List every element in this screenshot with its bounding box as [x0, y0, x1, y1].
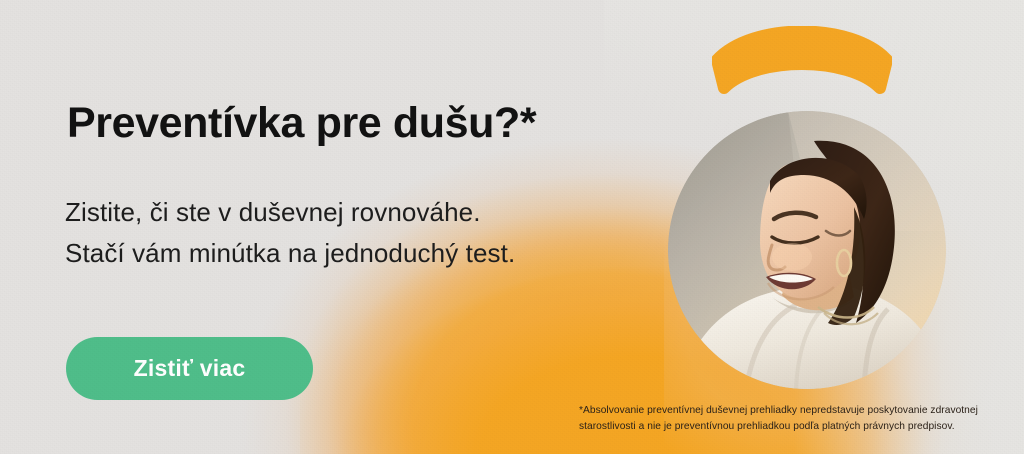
page-title: Preventívka pre dušu?*: [67, 101, 536, 146]
promo-banner: Preventívka pre dušu?* Zistite, či ste v…: [0, 0, 1024, 454]
learn-more-button[interactable]: Zistiť viac: [66, 337, 313, 400]
orange-arc-decoration: [712, 26, 892, 96]
subheading: Zistite, či ste v duševnej rovnováhe. St…: [65, 192, 515, 274]
disclaimer-text: *Absolvovanie preventívnej duševnej preh…: [579, 403, 1003, 435]
subheading-line-2: Stačí vám minútka na jednoduchý test.: [65, 233, 515, 274]
portrait-photo: [668, 111, 946, 389]
subheading-line-1: Zistite, či ste v duševnej rovnováhe.: [65, 192, 515, 233]
